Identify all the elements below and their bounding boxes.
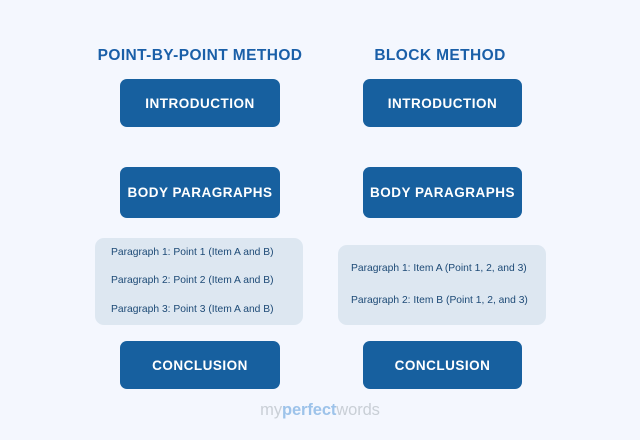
detail-line: Paragraph 3: Point 3 (Item A and B) — [111, 305, 303, 315]
column-heading-block: BLOCK METHOD — [300, 47, 580, 65]
brand-logo: myperfectwords — [0, 401, 640, 420]
box-conclusion-block: CONCLUSION — [363, 341, 522, 389]
column-point-by-point: POINT-BY-POINT METHOD INTRODUCTION BODY … — [60, 0, 340, 440]
column-block: BLOCK METHOD INTRODUCTION BODY PARAGRAPH… — [300, 0, 580, 440]
logo-part-my: my — [260, 401, 282, 419]
box-introduction-block: INTRODUCTION — [363, 79, 522, 127]
logo-part-words: words — [336, 401, 380, 419]
box-body-paragraphs-point-by-point: BODY PARAGRAPHS — [120, 167, 280, 218]
detail-line: Paragraph 2: Item B (Point 1, 2, and 3) — [351, 296, 546, 306]
detail-line: Paragraph 2: Point 2 (Item A and B) — [111, 276, 303, 286]
column-heading-point-by-point: POINT-BY-POINT METHOD — [60, 47, 340, 65]
detail-panel-block: Paragraph 1: Item A (Point 1, 2, and 3) … — [338, 245, 546, 325]
logo-part-perfect: perfect — [282, 401, 336, 419]
box-conclusion-point-by-point: CONCLUSION — [120, 341, 280, 389]
detail-panel-point-by-point: Paragraph 1: Point 1 (Item A and B) Para… — [95, 238, 303, 325]
detail-line: Paragraph 1: Item A (Point 1, 2, and 3) — [351, 264, 546, 274]
infographic-canvas: POINT-BY-POINT METHOD INTRODUCTION BODY … — [0, 0, 640, 440]
detail-line: Paragraph 1: Point 1 (Item A and B) — [111, 248, 303, 258]
box-body-paragraphs-block: BODY PARAGRAPHS — [363, 167, 522, 218]
box-introduction-point-by-point: INTRODUCTION — [120, 79, 280, 127]
